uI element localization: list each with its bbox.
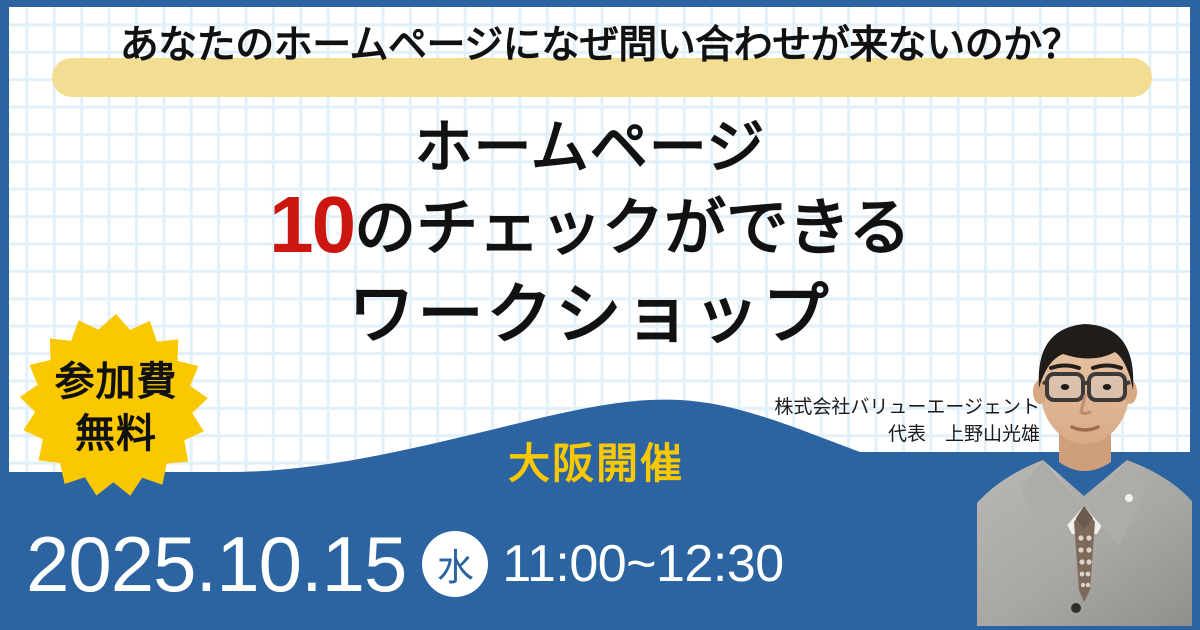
speaker-photo [977,284,1192,626]
weekday-badge: 水 [422,531,488,597]
event-time: 11:00~12:30 [502,536,783,592]
event-date: 2025.10.15 [26,524,406,604]
frame-border-top [0,0,1200,7]
free-admission-badge: 参加費 無料 [20,312,212,504]
title-line-2-text: のチェックができる [354,194,911,263]
badge-line-2: 無料 [75,408,157,460]
seminar-poster: あなたのホームページになぜ問い合わせが来ないのか？ ホームページ 10のチェック… [0,0,1200,630]
eyebrow-headline: あなたのホームページになぜ問い合わせが来ないのか？ [0,18,1200,90]
title-line-2: 10のチェックができる [0,184,1180,270]
eyebrow-text: あなたのホームページになぜ問い合わせが来ないのか？ [0,18,1200,74]
location-label: 大阪開催 [508,430,684,491]
frame-border-bottom [0,626,1200,630]
speaker-portrait-illustration [977,284,1192,626]
badge-line-1: 参加費 [55,356,178,408]
schedule-row: 2025.10.15 水 11:00~12:30 [26,524,784,604]
title-number-ten: 10 [269,180,354,269]
title-line-1: ホームページ [0,112,1180,184]
badge-text: 参加費 無料 [20,312,212,504]
